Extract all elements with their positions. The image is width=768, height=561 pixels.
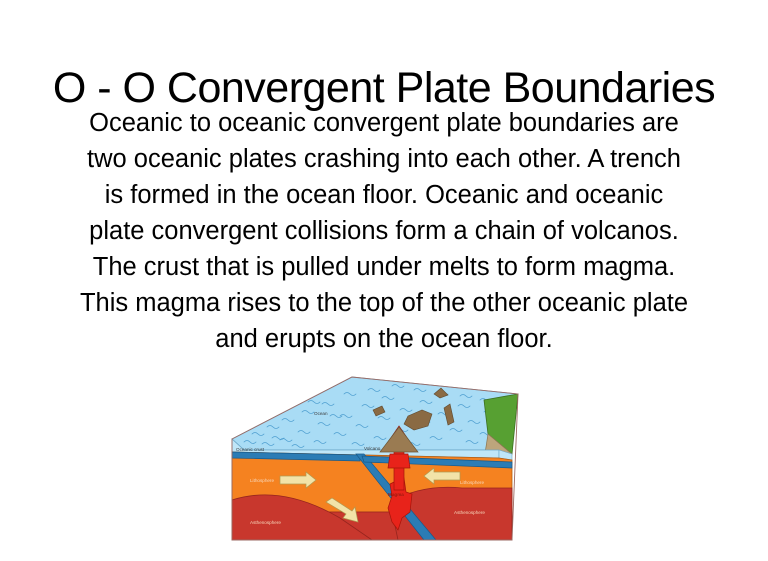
- body-line: two oceanic plates crashing into each ot…: [18, 141, 750, 177]
- body-line: The crust that is pulled under melts to …: [18, 249, 750, 285]
- slide: O - O Convergent Plate Boundaries Oceani…: [0, 0, 768, 561]
- body-line: and erupts on the ocean floor.: [18, 321, 750, 357]
- label-asthenosphere-left: Asthenosphere: [250, 520, 281, 525]
- label-lithosphere-left: Lithosphere: [250, 478, 274, 483]
- body-line: Oceanic to oceanic convergent plate boun…: [18, 105, 750, 141]
- body-line: is formed in the ocean floor. Oceanic an…: [18, 177, 750, 213]
- label-volcano: Volcano: [364, 446, 381, 451]
- label-asthenosphere-right: Asthenosphere: [454, 510, 485, 515]
- label-oceanic-crust: Oceanic crust: [236, 447, 265, 452]
- slide-body-text: Oceanic to oceanic convergent plate boun…: [18, 105, 750, 357]
- body-line: plate convergent collisions form a chain…: [18, 213, 750, 249]
- diagram-image: Ocean Oceanic crust: [222, 372, 525, 546]
- label-lithosphere-right: Lithosphere: [460, 480, 484, 485]
- convergent-boundary-illustration: Ocean Oceanic crust: [222, 372, 525, 546]
- label-ocean: Ocean: [314, 411, 328, 416]
- body-line: This magma rises to the top of the other…: [18, 285, 750, 321]
- magma-arrow-shaft: [388, 454, 410, 468]
- label-magma: Magma: [388, 492, 404, 497]
